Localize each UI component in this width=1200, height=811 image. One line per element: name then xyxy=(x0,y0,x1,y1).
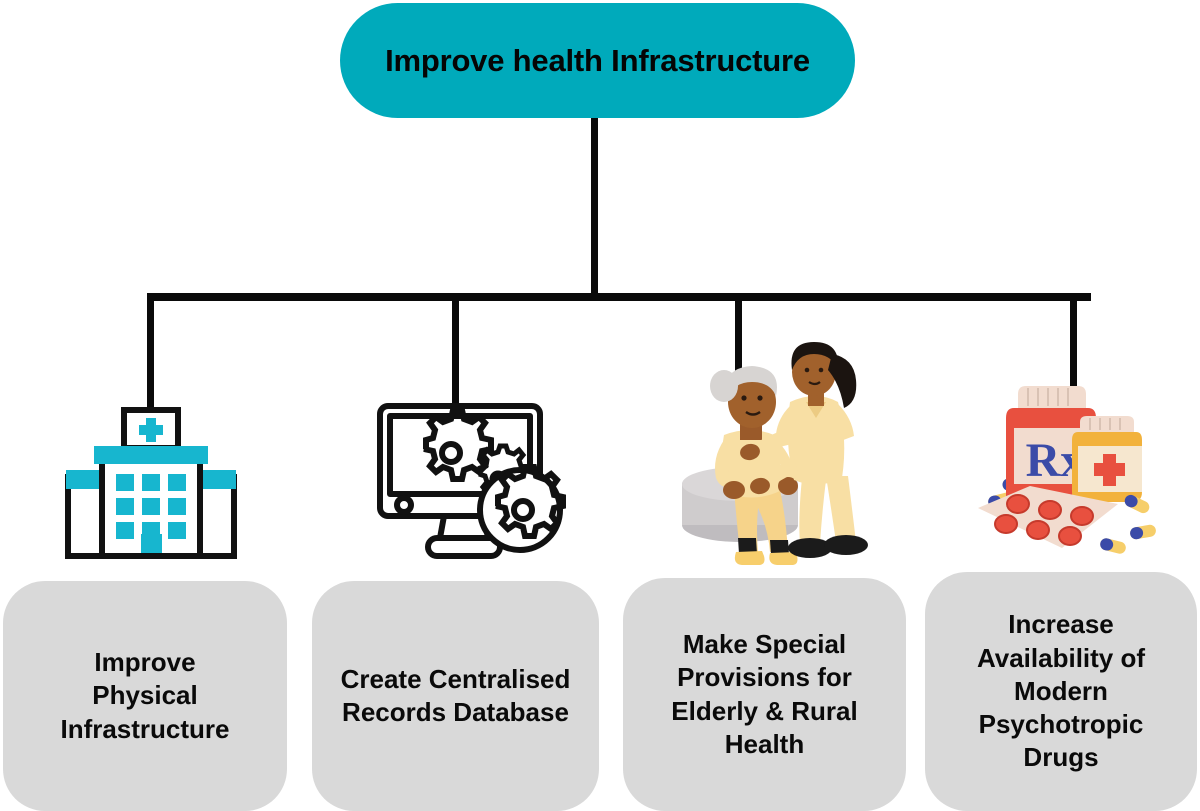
root-node-label: Improve health Infrastructure xyxy=(385,43,810,79)
connector-horizontal-bus xyxy=(147,293,1091,301)
leaf-node-increase-availability-modern-psychotropic-drugs[interactable]: Increase Availability of Modern Psychotr… xyxy=(925,572,1197,811)
diagram-canvas: Improve health Infrastructure xyxy=(0,0,1200,811)
monitor-gears-icon xyxy=(372,398,572,563)
leaf-node-make-special-provisions-elderly-rural-health[interactable]: Make Special Provisions for Elderly & Ru… xyxy=(623,578,906,811)
connector-root-stem xyxy=(591,118,598,300)
nurse-assisting-elderly-icon xyxy=(678,340,868,565)
leaf-node-improve-physical-infrastructure[interactable]: Improve Physical Infrastructure xyxy=(3,581,287,811)
leaf-node-label: Create Centralised Records Database xyxy=(341,663,571,730)
leaf-node-label: Make Special Provisions for Elderly & Ru… xyxy=(671,628,857,761)
leaf-node-label: Increase Availability of Modern Psychotr… xyxy=(977,608,1145,774)
leaf-node-label: Improve Physical Infrastructure xyxy=(60,646,229,746)
hospital-building-icon xyxy=(62,398,240,563)
connector-drop-branch-2 xyxy=(452,297,459,409)
connector-drop-branch-1 xyxy=(147,297,154,409)
root-node-improve-health-infrastructure[interactable]: Improve health Infrastructure xyxy=(340,3,855,118)
leaf-node-create-centralised-records-database[interactable]: Create Centralised Records Database xyxy=(312,581,599,811)
medicine-bottles-pills-icon: Rx xyxy=(960,358,1165,563)
